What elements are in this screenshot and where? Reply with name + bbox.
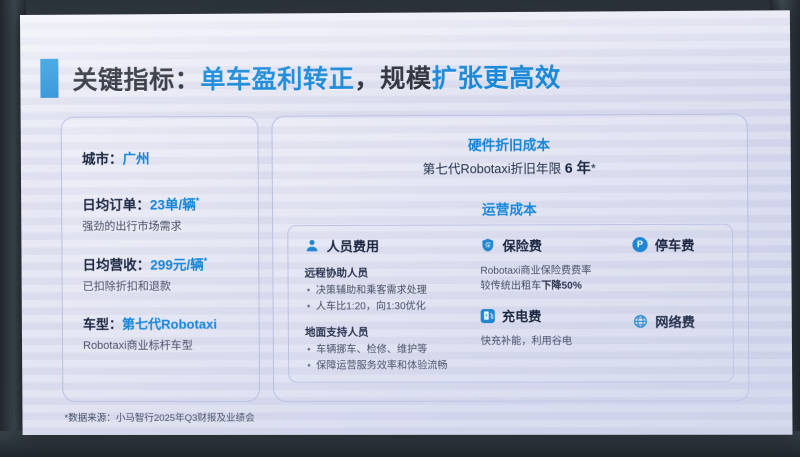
metric-daily-orders: 日均订单：23单/辆* 强劲的出行市场需求 [82,193,199,233]
metric-vehicle-model: 车型：第七代Robotaxi Robotaxi商业标杆车型 [83,314,217,353]
metric-daily-orders-label: 日均订单： [82,198,150,213]
slide-title: 关键指标：单车盈利转正，规模扩张更高效 [40,56,561,98]
metric-daily-orders-value: 23单/辆 [150,197,196,212]
title-highlight-2: 扩张更高效 [432,64,561,93]
staff-remote-subhead: 远程协助人员 [305,265,487,281]
hardware-line-prefix: 第七代Robotaxi折旧年限 [423,162,562,177]
presentation-slide: 关键指标：单车盈利转正，规模扩张更高效 城市：广州 日均订单：23单/辆* 强劲… [20,10,793,435]
metric-vehicle-model-label: 车型： [83,317,122,332]
operating-cost-box: 人员费用 远程协助人员 决策辅助和乘客需求处理 人车比1:20，向1:30优化 … [287,224,734,383]
list-item: 保障运营服务效率和体验流畅 [316,358,487,374]
cost-item-network-label: 网络费 [655,312,695,331]
operating-cost-title: 运营成本 [273,197,747,219]
staff-ground-subhead: 地面支持人员 [305,324,487,339]
list-item: 决策辅助和乘客需求处理 [316,283,487,299]
cost-item-charging-label: 充电费 [502,306,542,325]
title-highlight-1: 单车盈利转正 [200,65,354,94]
metric-daily-revenue-sub: 已扣除折扣和退款 [83,278,208,294]
metric-city-value: 广州 [122,151,149,166]
cost-item-charging: 充电费 快充补能，利用谷电 [481,306,644,350]
key-metrics-card: 城市：广州 日均订单：23单/辆* 强劲的出行市场需求 日均营收：299元/辆*… [61,116,260,402]
hardware-line-value: 6 年 [565,160,591,176]
staff-ground-bullets: 车辆挪车、检修、维护等 保障运营服务效率和体验流畅 [305,342,487,373]
cost-item-network-head: 网络费 [633,312,745,331]
metric-daily-orders-head: 日均订单：23单/辆* [82,193,199,213]
title-lead: 关键指标： [72,66,200,95]
list-item: 车辆挪车、检修、维护等 [316,342,487,358]
hardware-depreciation-line: 第七代Robotaxi折旧年限 6 年* [273,157,747,179]
cost-item-parking: P 停车费 [632,235,744,255]
shield-insurance-icon: 保 [480,238,495,253]
hardware-line-star: * [591,162,596,176]
title-middle: ，规模 [354,64,431,93]
hardware-depreciation-title: 硬件折旧成本 [273,133,747,155]
cost-structure-card: 硬件折旧成本 第七代Robotaxi折旧年限 6 年* 运营成本 人员费用 远程… [271,114,749,402]
source-footnote: *数据来源：小马智行2025年Q3财报及业绩会 [64,410,254,424]
cost-item-charging-head: 充电费 [481,306,643,325]
insurance-body-line2: 较传统出租车下降50% [480,278,642,293]
parking-icon: P [632,237,647,252]
metric-daily-revenue-head: 日均营收：299元/辆* [83,253,208,273]
metric-daily-orders-sub: 强劲的出行市场需求 [82,217,199,233]
list-item: 人车比1:20，向1:30优化 [316,298,487,314]
cost-item-insurance-body: Robotaxi商业保险费费率 较传统出租车下降50% [480,263,643,294]
metric-daily-revenue: 日均营收：299元/辆* 已扣除折扣和退款 [83,253,208,293]
metric-city-head: 城市：广州 [82,147,150,167]
metric-daily-revenue-star: * [204,256,208,266]
cost-item-insurance-label: 保险费 [502,235,542,254]
metric-city: 城市：广州 [82,147,150,167]
cost-item-staff-head: 人员费用 [304,236,486,256]
cost-item-parking-label: 停车费 [655,235,695,254]
metric-city-label: 城市： [82,152,123,167]
metric-daily-revenue-label: 日均营收： [83,258,151,273]
person-icon [304,238,319,253]
metric-vehicle-model-value: 第七代Robotaxi [122,317,217,332]
cost-item-parking-head: P 停车费 [632,235,744,255]
metric-daily-orders-star: * [196,196,200,206]
title-text: 关键指标：单车盈利转正，规模扩张更高效 [72,58,561,97]
title-accent-bar [40,59,58,98]
cost-item-staff-label: 人员费用 [327,236,380,255]
insurance-body-strong: 下降50% [541,281,582,292]
charging-body-line1: 快充补能，利用谷电 [481,334,643,349]
insurance-body-line1: Robotaxi商业保险费费率 [480,263,642,279]
cost-item-charging-body: 快充补能，利用谷电 [481,334,643,349]
cost-item-network: 网络费 [633,312,745,331]
globe-network-icon [633,314,648,329]
cost-item-insurance: 保 保险费 Robotaxi商业保险费费率 较传统出租车下降50% [480,235,643,294]
staff-remote-bullets: 决策辅助和乘客需求处理 人车比1:20，向1:30优化 [305,283,487,315]
metric-vehicle-model-head: 车型：第七代Robotaxi [83,314,217,333]
metric-vehicle-model-sub: Robotaxi商业标杆车型 [83,337,217,353]
insurance-body-prefix: 较传统出租车 [480,281,541,292]
cost-item-staff: 人员费用 远程协助人员 决策辅助和乘客需求处理 人车比1:20，向1:30优化 … [304,236,487,374]
metric-daily-revenue-value: 299元/辆 [150,257,204,272]
cost-item-insurance-head: 保 保险费 [480,235,642,255]
photographed-screen: 关键指标：单车盈利转正，规模扩张更高效 城市：广州 日均订单：23单/辆* 强劲… [0,0,800,457]
charging-station-icon [481,309,495,323]
